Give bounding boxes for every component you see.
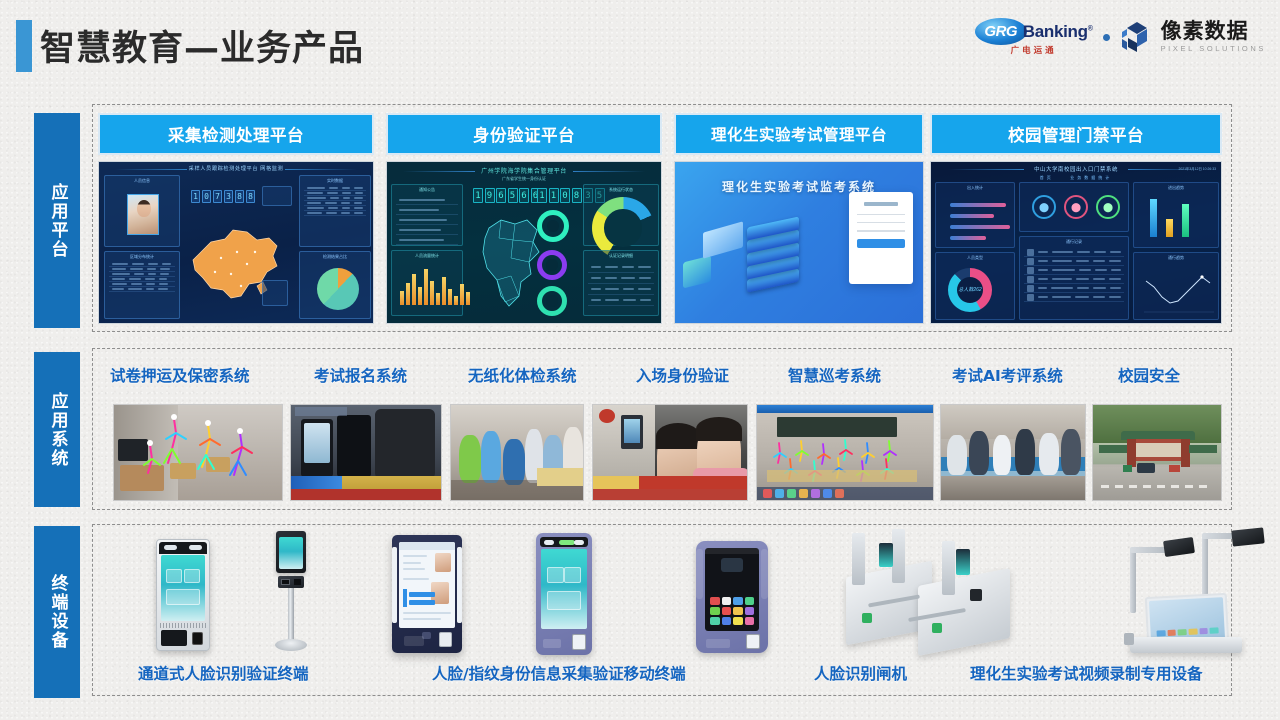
tab-stats[interactable]: 业务数据统计: [1070, 175, 1112, 180]
exam-registration-photo: [291, 405, 441, 500]
system-photo-1: [113, 404, 283, 501]
grgbanking-logo: GRG Banking® 广电运通: [975, 18, 1093, 56]
bar: [424, 269, 428, 305]
donut-chart-1: [537, 210, 569, 242]
bar: [442, 277, 446, 305]
panel-realtime-data: 实时数据: [299, 175, 371, 247]
recorder-camera-right: [1231, 527, 1264, 546]
gate-indicator-2: [932, 623, 942, 633]
line-chart: [1144, 267, 1214, 318]
donut-chart-2: [537, 250, 567, 280]
card-reader[interactable]: [161, 630, 187, 646]
vertical-bar-chart: [1150, 195, 1189, 237]
counter-digit: 1: [191, 190, 200, 203]
dashboard-title-2: 广州学院海学院集合管理平台: [387, 166, 661, 175]
system-label-2[interactable]: 考试报名系统: [314, 364, 407, 386]
panel-flow-stats: 人员流量统计: [391, 250, 463, 316]
screen-action-tile[interactable]: [547, 591, 581, 610]
recorder-base: [1130, 637, 1242, 653]
panel-auth-records: 认证记录明细: [583, 250, 659, 316]
counter-digit: 5: [508, 188, 518, 203]
panel-heading: 进出趋势: [1134, 185, 1218, 191]
screen-tile-fingerprint[interactable]: [564, 567, 581, 583]
counter-registered: 196566: [473, 188, 541, 203]
grg-chinese-name: 广电运通: [1011, 44, 1057, 56]
fingerprint-reader[interactable]: [192, 632, 203, 645]
kiosk-screen[interactable]: [399, 542, 455, 628]
system-photo-6: [940, 404, 1086, 501]
system-label-7[interactable]: 校园安全: [1118, 364, 1180, 386]
panel-system-status: 系统运行状态: [583, 184, 659, 246]
table-row: [1024, 266, 1124, 275]
h-bar: [950, 225, 1010, 229]
identity-verification-photo: [593, 405, 747, 500]
device-exam-video-recorder[interactable]: [1096, 529, 1274, 655]
bar-chart: [400, 265, 470, 305]
device-wall-face-terminal[interactable]: [156, 539, 210, 651]
pixel-english-name: PIXEL SOLUTIONS: [1161, 44, 1266, 53]
counter-digit: 1: [537, 188, 547, 203]
platform-card-3[interactable]: 理化生实验考试管理平台 理化生实验考试监考系统: [674, 113, 924, 324]
dashboard-tabs-4[interactable]: 首页 业务数据统计: [931, 175, 1221, 181]
panel-heading: 人员流量统计: [392, 253, 462, 259]
bar: [400, 291, 404, 305]
panel-heading: 区域分布统计: [105, 254, 179, 260]
table-row: [588, 262, 654, 273]
panel-gate-summary: ⬤ ⬤ ⬤: [1019, 182, 1129, 232]
platform-title-3[interactable]: 理化生实验考试管理平台: [674, 113, 924, 155]
camera-bar: [159, 542, 207, 554]
system-photo-4: [592, 404, 748, 501]
kiosk-fingerprint-reader[interactable]: [439, 632, 452, 647]
panel-heading: 人员信息: [105, 178, 179, 184]
section-label-terminal: 终端设备: [34, 526, 80, 698]
bar: [466, 292, 470, 305]
handheld-fingerprint-reader[interactable]: [572, 634, 586, 650]
dashboard-campus-access: 中山大学南校园出入口门禁系统 首页 业务数据统计 2021年3月12日 10:2…: [931, 162, 1221, 323]
screen-action-tile[interactable]: [166, 589, 200, 605]
android-fingerprint-reader[interactable]: [746, 634, 760, 649]
title-accent-bar: [16, 20, 32, 72]
system-label-6[interactable]: 考试AI考评系统: [952, 364, 1063, 386]
grg-brand-word: Banking®: [1023, 22, 1093, 42]
news-ticker-blue: [291, 476, 342, 489]
bar: [406, 283, 410, 305]
entrance-icon: ⬤: [1032, 195, 1056, 219]
panel-heading: 认证记录明细: [584, 253, 658, 259]
stats-table: [109, 262, 175, 292]
realtime-counter: 107388: [191, 190, 255, 203]
recorder-knob[interactable]: [1124, 633, 1134, 645]
stand-terminal-screen[interactable]: [279, 537, 303, 569]
panel-heading: 实时数据: [300, 178, 370, 184]
table-row: [1024, 248, 1124, 257]
counter-digit: 8: [572, 188, 582, 203]
device-handheld-face-terminal[interactable]: [536, 533, 592, 655]
counter-digit: 0: [560, 188, 570, 203]
terminal-label-1[interactable]: 通道式人脸识别验证终端: [138, 662, 309, 684]
table-row: [1024, 257, 1124, 266]
channel-icon: ⬤: [1064, 195, 1088, 219]
bar: [430, 281, 434, 305]
terminal-label-4[interactable]: 理化生实验考试视频录制专用设备: [970, 662, 1203, 684]
counter-digit: 8: [246, 190, 255, 203]
list-item: [396, 235, 458, 245]
grg-logo-row: GRG Banking®: [975, 18, 1093, 45]
system-label-3[interactable]: 无纸化体检系统: [468, 364, 577, 386]
panel-area-stats: 区域分布统计: [104, 251, 180, 319]
platform-card-2[interactable]: 身份验证平台 广州学院海学院集合管理平台 广东省学生统一身份认证 通知公告: [386, 113, 662, 324]
login-card[interactable]: [849, 192, 913, 284]
counter-digit: 0: [202, 190, 211, 203]
gate-face-display-1[interactable]: [879, 543, 893, 567]
iso-laptop-icon: [703, 221, 743, 258]
device-face-turnstile-gates[interactable]: [846, 527, 1046, 657]
iso-building-icon: [747, 213, 799, 287]
stand-pole: [288, 588, 294, 640]
captcha-field[interactable]: [857, 230, 905, 231]
screen-tile-card[interactable]: [184, 569, 200, 583]
gate-face-display-2[interactable]: [956, 549, 970, 575]
platform-screenshot-2: 广州学院海学院集合管理平台 广东省学生统一身份认证 通知公告 人员流量统计: [386, 161, 662, 324]
counter-digit: 9: [485, 188, 495, 203]
tab-home[interactable]: 首页: [1040, 175, 1054, 180]
terminal-screen[interactable]: [161, 555, 205, 621]
table-row: [1024, 284, 1124, 293]
login-card-title: [864, 202, 898, 206]
terminal-label-3[interactable]: 人脸识别闸机: [814, 662, 907, 684]
counter-digit: 3: [224, 190, 233, 203]
table-row: [588, 284, 654, 295]
system-photo-7: [1092, 404, 1222, 501]
panel-heading: 人员类型: [936, 255, 1014, 261]
player-controls[interactable]: [757, 487, 933, 500]
list-item: [396, 215, 458, 225]
panel-pass-trend: 通行趋势: [1133, 252, 1219, 320]
map-legend: [262, 280, 288, 306]
pie-chart: [317, 268, 359, 310]
stand-terminal-reader[interactable]: [278, 576, 304, 588]
donut-chart-3: [537, 286, 567, 316]
platform-card-1[interactable]: 采集检测处理平台 采样人员跟踪检测处理平台 网格监测 人员信息 区域分布统计: [98, 113, 374, 324]
grg-registered-mark: ®: [1088, 25, 1093, 32]
section-label-system: 应用系统: [34, 352, 80, 507]
data-table: [304, 186, 366, 216]
h-bar: [950, 203, 1006, 207]
dashboard-clock-4: 2021年3月12日 10:26:33: [1178, 166, 1216, 171]
recorder-camera-left: [1163, 537, 1195, 557]
donut-center-label: 总人数 262: [957, 277, 983, 303]
panel-person-type: 人员类型 总人数 262: [935, 252, 1015, 320]
gate-post-1: [852, 533, 865, 585]
dashboard-subtitle-2: 广东省学生统一身份认证: [387, 176, 661, 182]
dashboard-identity: 广州学院海学院集合管理平台 广东省学生统一身份认证 通知公告 人员流量统计: [387, 162, 661, 323]
table-row: [588, 295, 654, 306]
system-photo-2: [290, 404, 442, 501]
system-labels-row: 试卷押运及保密系统 考试报名系统 无纸化体检系统 入场身份验证 智慧巡考系统 考…: [96, 364, 1226, 390]
handheld-screen[interactable]: [541, 549, 587, 629]
app-icon-grid[interactable]: [710, 597, 754, 625]
pixel-chinese-name: 像素数据: [1161, 21, 1266, 42]
system-photo-5: [756, 404, 934, 501]
device-handheld-android-terminal[interactable]: [696, 541, 768, 653]
h-bar: [950, 236, 986, 240]
counter-digit: 8: [235, 190, 244, 203]
ai-evaluation-photo: [941, 405, 1085, 500]
portrait-photo: [127, 194, 159, 235]
bar: [1182, 204, 1189, 237]
password-field[interactable]: [857, 222, 905, 223]
stand-terminal-head: [276, 531, 306, 573]
device-self-service-kiosk[interactable]: [392, 535, 462, 653]
login-submit-button[interactable]: [857, 239, 905, 248]
list-item: [396, 205, 458, 215]
kpi-value: 262: [973, 287, 981, 293]
bar: [448, 289, 452, 305]
panel-pass-records: 通行记录: [1019, 236, 1129, 320]
dashboard-collection: 采样人员跟踪检测处理平台 网格监测 人员信息 区域分布统计: [99, 162, 373, 323]
panel-notice: 通知公告: [391, 184, 463, 246]
gate-post-2: [892, 529, 905, 583]
list-item: [396, 225, 458, 235]
counter-digit: 1: [549, 188, 559, 203]
kiosk-card-slot[interactable]: [404, 636, 424, 646]
panel-heading: 通行记录: [1020, 239, 1128, 245]
platform-screenshot-3: 理化生实验考试监考系统: [674, 161, 924, 324]
pose-detection-photo: [114, 405, 282, 500]
handheld-camera-bar: [540, 537, 588, 547]
table-row: [1024, 275, 1124, 284]
slide-header: 智慧教育—业务产品 GRG Banking® 广电运通: [0, 0, 1280, 92]
counter-digit: 6: [496, 188, 506, 203]
handheld-brand-mark: [543, 639, 561, 648]
table-row: [1024, 293, 1124, 302]
bar: [454, 296, 458, 305]
bar: [1150, 199, 1157, 237]
page-title: 智慧教育—业务产品: [40, 20, 364, 71]
username-field[interactable]: [857, 214, 905, 215]
counter-digit: 6: [519, 188, 529, 203]
platform-screenshot-1: 采样人员跟踪检测处理平台 网格监测 人员信息 区域分布统计: [98, 161, 374, 324]
donut-total-people: 总人数 262: [948, 268, 992, 312]
panel-heading: 系统运行状态: [584, 187, 658, 193]
kpi-label: 总人数: [958, 287, 973, 293]
pixel-cube-icon: [1120, 20, 1154, 54]
panel-heading: 通行趋势: [1134, 255, 1218, 261]
screen-tile-face[interactable]: [547, 567, 564, 583]
recorder-arm-left: [1130, 549, 1136, 613]
iso-server-icon: [683, 256, 711, 289]
news-ticker-red: [291, 489, 441, 500]
panel-result-ratio: 检测结果占比: [299, 251, 371, 319]
terminal-labels-row: 通道式人脸识别验证终端 人脸/指纹身份信息采集验证移动终端 人脸识别闸机 理化生…: [96, 662, 1226, 686]
table-row: [304, 211, 366, 216]
stand-base: [275, 639, 307, 651]
exam-patrol-photo: [757, 405, 933, 500]
slide-root: 智慧教育—业务产品 GRG Banking® 广电运通: [0, 0, 1280, 720]
table-row: [109, 287, 175, 292]
campus-security-photo: [1093, 405, 1221, 500]
screen-tile-face[interactable]: [166, 569, 182, 583]
system-photo-3: [450, 404, 584, 501]
grg-globe-icon: GRG: [975, 18, 1027, 45]
panel-inout-trend: 进出趋势: [1133, 182, 1219, 248]
counter-digit: 7: [213, 190, 222, 203]
logo-group: GRG Banking® 广电运通: [975, 18, 1266, 56]
h-bar: [950, 214, 994, 218]
exam-login-page: 理化生实验考试监考系统: [675, 162, 923, 323]
gate-indicator-1: [862, 613, 872, 623]
bar: [418, 287, 422, 305]
gate-post-3: [942, 541, 955, 595]
bar: [436, 293, 440, 305]
panel-heading: 出入统计: [936, 185, 1014, 191]
platform-title-1[interactable]: 采集检测处理平台: [98, 113, 374, 155]
platform-screenshot-4: 中山大学南校园出入口门禁系统 首页 业务数据统计 2021年3月12日 10:2…: [930, 161, 1222, 324]
speaker-grille: [160, 623, 206, 628]
system-label-4[interactable]: 入场身份验证: [636, 364, 729, 386]
control-icon: ⬤: [1096, 195, 1120, 219]
bar: [412, 274, 416, 305]
terminal-label-2[interactable]: 人脸/指纹身份信息采集验证移动终端: [432, 662, 686, 684]
platform-title-2[interactable]: 身份验证平台: [386, 113, 662, 155]
terminal-housing: [156, 539, 210, 651]
pixel-solutions-logo: 像素数据 PIXEL SOLUTIONS: [1120, 20, 1266, 54]
panel-inout-stats: 出入统计: [935, 182, 1015, 248]
id-photo-1: [435, 553, 451, 572]
section-label-platform: 应用平台: [34, 113, 80, 328]
records-table: [588, 262, 654, 306]
android-brand-mark: [706, 639, 730, 648]
list-item: [396, 195, 458, 205]
counter-digit: 1: [473, 188, 483, 203]
health-check-photo: [451, 405, 583, 500]
device-stand-face-terminal[interactable]: [276, 531, 306, 651]
table-row: [588, 273, 654, 284]
pass-records-table: [1024, 248, 1124, 302]
recorder-arm-right: [1202, 537, 1208, 599]
logo-separator-dot: [1103, 34, 1110, 41]
panel-kpi-small: [262, 186, 292, 206]
dashboard-title-1: 采样人员跟踪检测处理平台 网格监测: [99, 165, 373, 172]
bar: [1166, 219, 1173, 237]
gate-card-reader[interactable]: [970, 589, 982, 601]
panel-heading: 检测结果占比: [300, 254, 370, 260]
platform-title-4[interactable]: 校园管理门禁平台: [930, 113, 1222, 155]
notice-list: [396, 195, 458, 245]
bar: [460, 284, 464, 305]
panel-person-info: 人员信息: [104, 175, 180, 247]
system-label-5[interactable]: 智慧巡考系统: [788, 364, 881, 386]
platform-card-4[interactable]: 校园管理门禁平台 中山大学南校园出入口门禁系统 首页 业务数据统计 2021年3…: [930, 113, 1222, 324]
grg-brand-text: Banking: [1023, 22, 1088, 41]
panel-heading: 通知公告: [392, 187, 462, 193]
pixel-logo-text: 像素数据 PIXEL SOLUTIONS: [1161, 21, 1266, 53]
player-toolbar: [757, 405, 933, 413]
android-screen[interactable]: [705, 548, 759, 631]
system-label-1[interactable]: 试卷押运及保密系统: [110, 364, 250, 386]
